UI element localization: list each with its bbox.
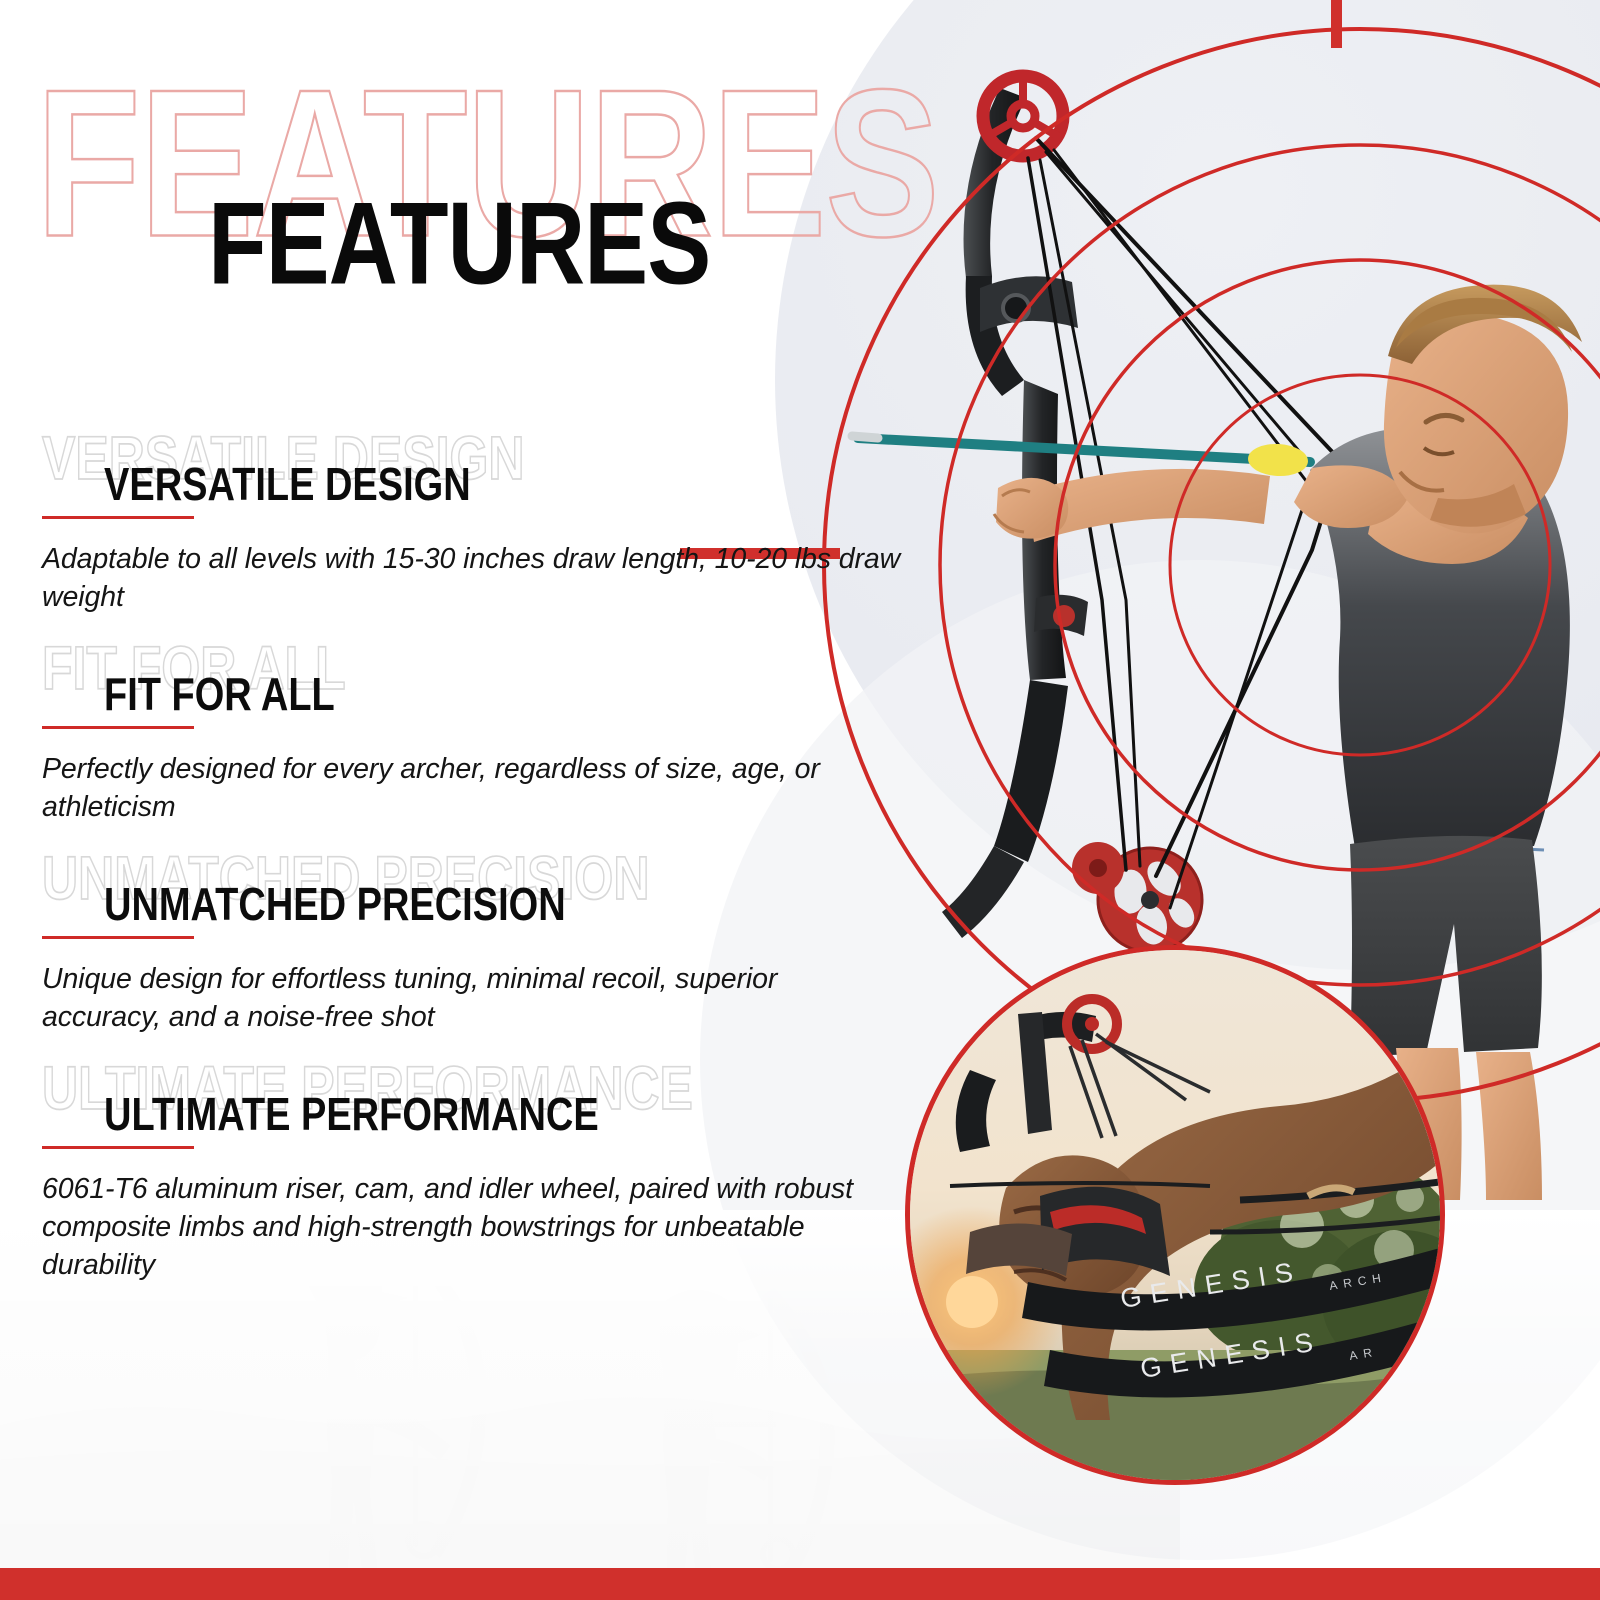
infographic-canvas: GENESIS ARCH GENESIS AR FEATURES FEATURE… — [0, 0, 1600, 1600]
feature-body: Perfectly designed for every archer, reg… — [42, 750, 902, 826]
accent-tick-vertical — [1331, 0, 1342, 48]
feature-item-unmatched-precision: UNMATCHED PRECISION UNMATCHED PRECISION … — [40, 882, 920, 920]
page-title: FEATURES — [208, 186, 710, 303]
feature-body: Adaptable to all levels with 15-30 inche… — [42, 540, 902, 616]
feature-underline — [42, 1146, 194, 1149]
feature-body: Unique design for effortless tuning, min… — [42, 960, 902, 1036]
feature-body: 6061-T6 aluminum riser, cam, and idler w… — [42, 1170, 912, 1285]
inset-photo-genesis-bow: GENESIS ARCH GENESIS AR — [905, 945, 1445, 1485]
feature-underline — [42, 936, 194, 939]
feature-heading: ULTIMATE PERFORMANCE — [104, 1092, 599, 1138]
feature-underline — [42, 516, 194, 519]
feature-underline — [42, 726, 194, 729]
feature-heading: FIT FOR ALL — [104, 672, 335, 718]
feature-item-fit-for-all: FIT FOR ALL FIT FOR ALL Perfectly design… — [40, 672, 920, 710]
feature-item-versatile-design: VERSATILE DESIGN VERSATILE DESIGN Adapta… — [40, 462, 920, 500]
footer-accent-bar — [0, 1568, 1600, 1600]
feature-heading: UNMATCHED PRECISION — [104, 882, 566, 928]
feature-heading: VERSATILE DESIGN — [104, 462, 471, 508]
feature-item-ultimate-performance: ULTIMATE PERFORMANCE ULTIMATE PERFORMANC… — [40, 1092, 920, 1130]
